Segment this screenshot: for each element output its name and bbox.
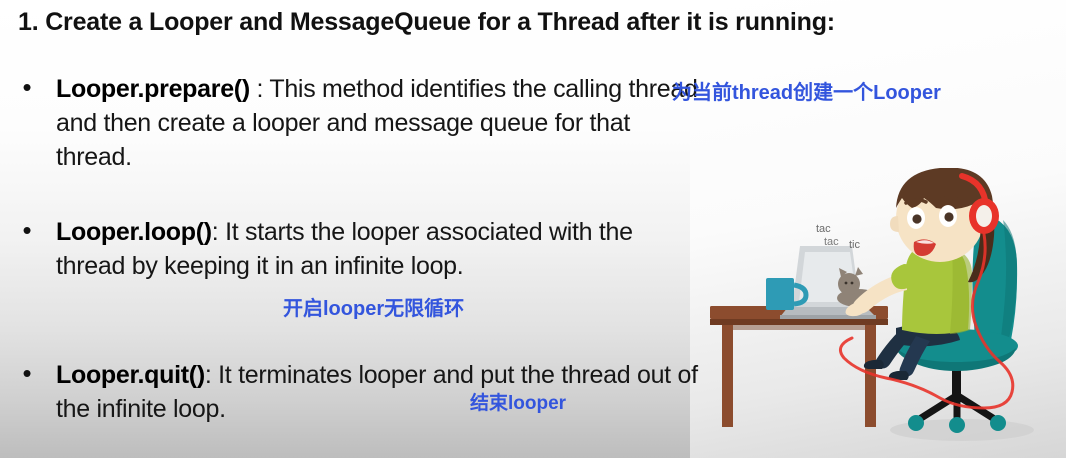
- mug-body: [766, 278, 794, 310]
- annotation-loop: 开启looper无限循环: [283, 292, 464, 321]
- bullet-term: Looper.prepare(): [56, 75, 250, 103]
- bullet-item-looper-quit: • Looper.quit(): It terminates looper an…: [22, 358, 702, 426]
- cat-eye-right: [851, 282, 854, 285]
- keyboard-sound-2: tac: [824, 236, 839, 248]
- annotation-prepare: 为当前thread创建一个Looper: [672, 76, 941, 105]
- bullet-text: Looper.quit(): It terminates looper and …: [56, 358, 702, 426]
- ear: [890, 216, 899, 232]
- headphone-earcup-inner: [976, 205, 992, 227]
- chair-caster-center: [949, 417, 965, 433]
- bullet-separator: :: [205, 361, 218, 389]
- bullet-text: Looper.prepare() : This method identifie…: [56, 72, 702, 174]
- bullet-marker-icon: •: [22, 358, 32, 388]
- slide-canvas: 1. Create a Looper and MessageQueue for …: [0, 0, 1066, 458]
- annotation-quit: 结束looper: [470, 388, 566, 415]
- cat-eye-left: [845, 282, 848, 285]
- bullet-separator: :: [212, 218, 225, 246]
- pupil-left: [912, 214, 921, 223]
- bullet-marker-icon: •: [22, 72, 32, 102]
- keyboard-sound-1: tac: [816, 223, 831, 235]
- laptop-base-edge: [780, 315, 876, 319]
- bullet-term: Looper.quit(): [56, 361, 205, 389]
- desk-top-edge: [710, 319, 888, 325]
- chair-caster-left: [908, 415, 924, 431]
- chair-base-left: [918, 396, 956, 420]
- desk-leg-left: [722, 325, 733, 427]
- bullet-marker-icon: •: [22, 215, 32, 245]
- chair-caster-right: [990, 415, 1006, 431]
- bullet-text: Looper.loop(): It starts the looper asso…: [56, 215, 702, 283]
- bullet-term: Looper.loop(): [56, 218, 212, 246]
- bullet-item-looper-loop: • Looper.loop(): It starts the looper as…: [22, 215, 702, 283]
- cat-ear-right: [855, 267, 863, 276]
- page-title: 1. Create a Looper and MessageQueue for …: [18, 8, 835, 37]
- shirt-shade: [950, 248, 972, 334]
- bullet-item-looper-prepare: • Looper.prepare() : This method identif…: [22, 72, 702, 174]
- pupil-right: [944, 212, 953, 221]
- illustration-person-at-desk: tac tac tic: [700, 168, 1066, 458]
- desk-apron: [733, 325, 865, 330]
- bullet-separator: :: [250, 75, 270, 103]
- keyboard-sound-3: tic: [849, 239, 861, 251]
